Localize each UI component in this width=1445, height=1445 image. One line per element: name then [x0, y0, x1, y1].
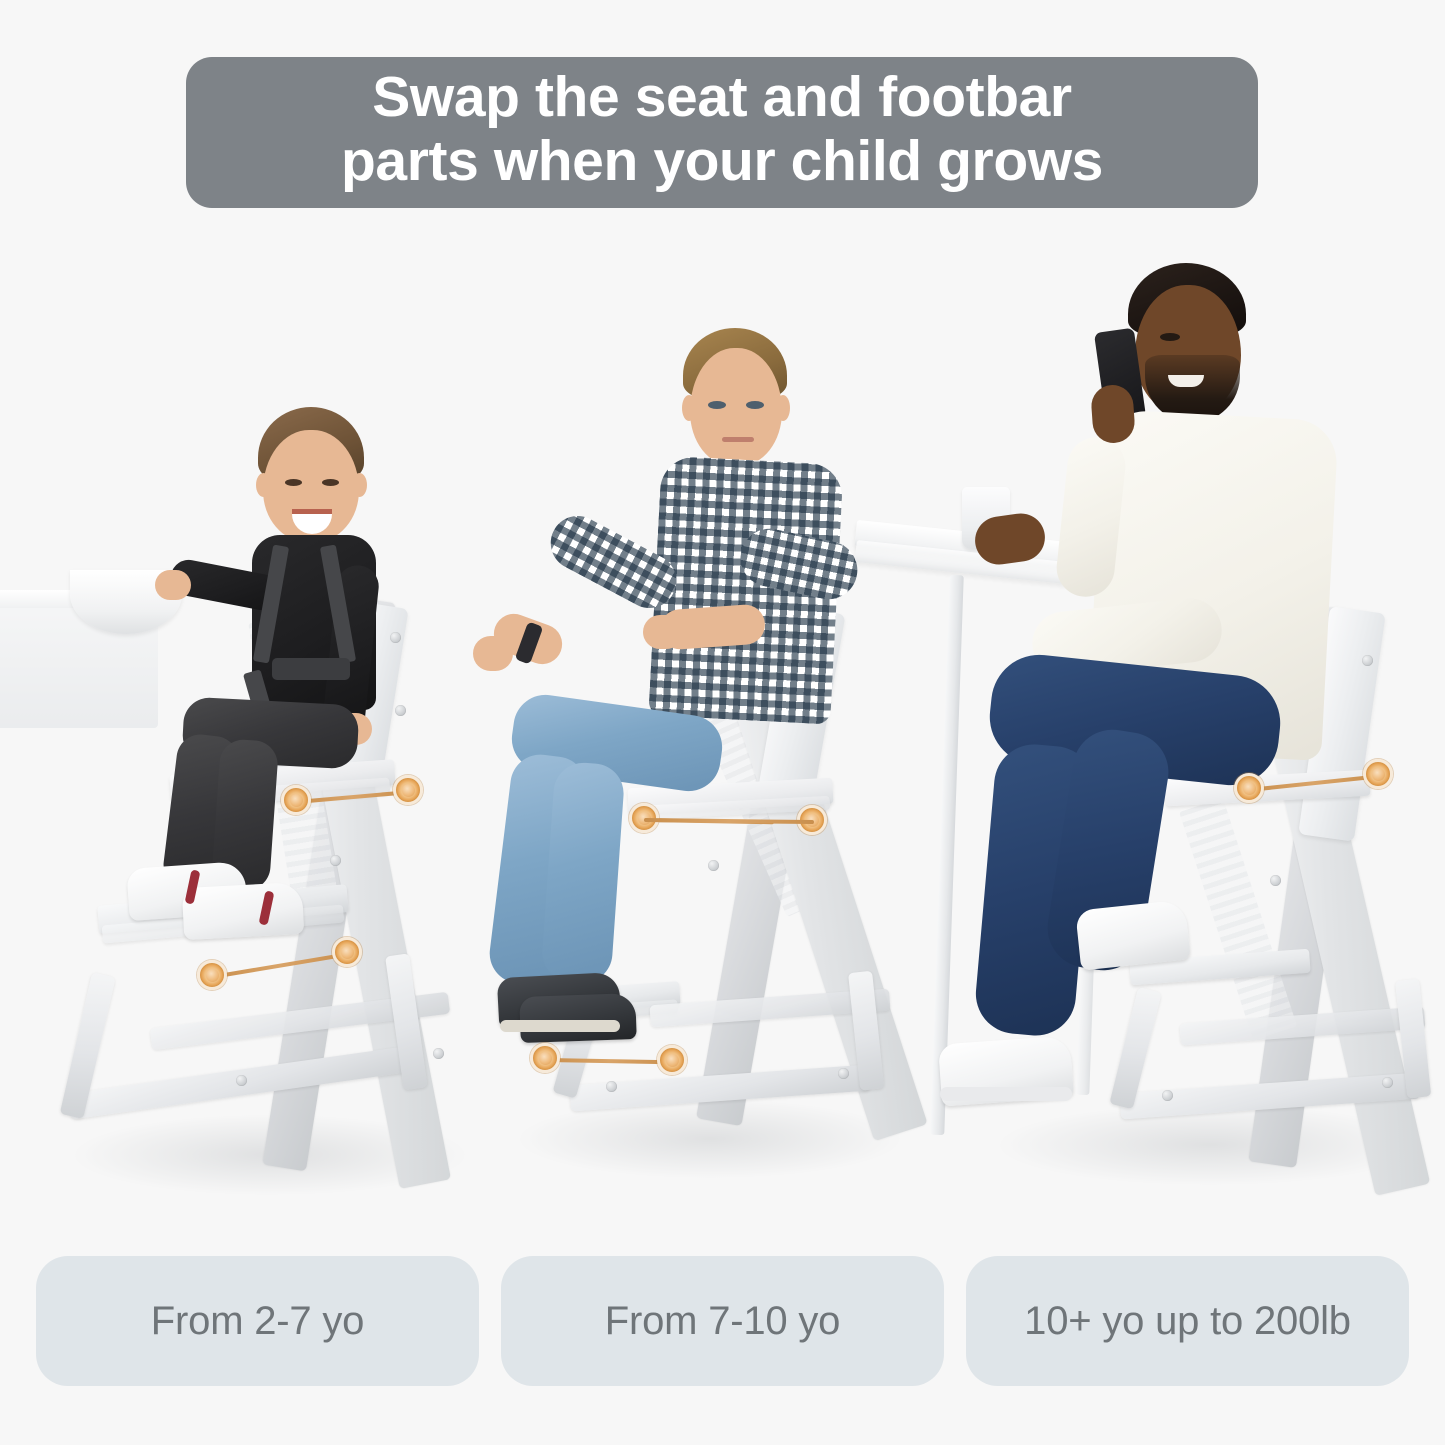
age-pill-1: From 2-7 yo [36, 1256, 479, 1386]
boy-shin-2 [540, 761, 625, 985]
man-eye [1160, 333, 1180, 341]
anno-left-seat-dot-end [393, 775, 423, 805]
chair-right-base-screw-1 [1162, 1090, 1173, 1101]
chair-left-base-screw-1 [236, 1075, 247, 1086]
man-shoe-sole-down [940, 1087, 1072, 1101]
age-pill-3-label: 10+ yo up to 200lb [1024, 1299, 1351, 1344]
age-pill-1-label: From 2-7 yo [151, 1299, 364, 1344]
anno-left-seat-dot-start [281, 785, 311, 815]
toddler-ear-left [256, 473, 271, 497]
toddler-hand-left [155, 570, 191, 600]
chair-right-upright-screw [1270, 875, 1281, 886]
age-pill-3: 10+ yo up to 200lb [966, 1256, 1409, 1386]
boy-hand-left [473, 636, 513, 671]
anno-mid-footbar-dot-end [657, 1045, 687, 1075]
boy-head [690, 348, 782, 466]
man-shoe-up [1075, 899, 1191, 970]
boy-shoe-right [519, 993, 637, 1043]
age-pill-2: From 7-10 yo [501, 1256, 944, 1386]
chair-left-backrest-screw-2 [395, 705, 406, 716]
boy-shoe-sole [500, 1020, 620, 1032]
chair-left-backrest-screw-1 [390, 632, 401, 643]
chair-left-base-screw-2 [433, 1048, 444, 1059]
toddler-eye-right [322, 479, 339, 486]
boy-eye-right [746, 401, 764, 409]
chair-right-notch-strip [1179, 798, 1297, 1040]
chair-mid-base-screw-2 [838, 1068, 849, 1079]
age-pill-2-label: From 7-10 yo [605, 1299, 840, 1344]
boy-eye-left [708, 401, 726, 409]
chair-mid-base-screw-1 [606, 1081, 617, 1092]
chair-mid-upright-screw [708, 860, 719, 871]
header-banner: Swap the seat and footbar parts when you… [186, 57, 1258, 208]
anno-right-seat-dot-end [1363, 759, 1393, 789]
boy-ear-right [776, 395, 790, 421]
toddler-harness-buckle [272, 658, 350, 680]
man-hand-phone [1090, 384, 1136, 445]
infographic-page: Swap the seat and footbar parts when you… [0, 0, 1445, 1445]
anno-mid-footbar-dot-start [530, 1043, 560, 1073]
anno-left-footbar-dot-end [332, 937, 362, 967]
boy-hand-right [643, 615, 683, 649]
boy-mouth [722, 437, 754, 442]
anno-left-footbar-dot-start [197, 960, 227, 990]
toddler-ear-right [352, 473, 367, 497]
chair-left-upright-screw [330, 855, 341, 866]
chair-right-base-screw-2 [1382, 1077, 1393, 1088]
toddler-shoe-right [182, 882, 305, 940]
age-range-pill-row: From 2-7 yo From 7-10 yo 10+ yo up to 20… [0, 1256, 1445, 1396]
chair-right-backrest-screw-1 [1362, 655, 1373, 666]
product-scene [0, 215, 1445, 1225]
anno-right-seat-dot-start [1234, 773, 1264, 803]
boy-ear-left [682, 395, 696, 421]
header-title-line-1: Swap the seat and footbar [372, 66, 1071, 130]
header-title-line-2: parts when your child grows [341, 130, 1103, 194]
toddler-eye-left [285, 479, 302, 486]
